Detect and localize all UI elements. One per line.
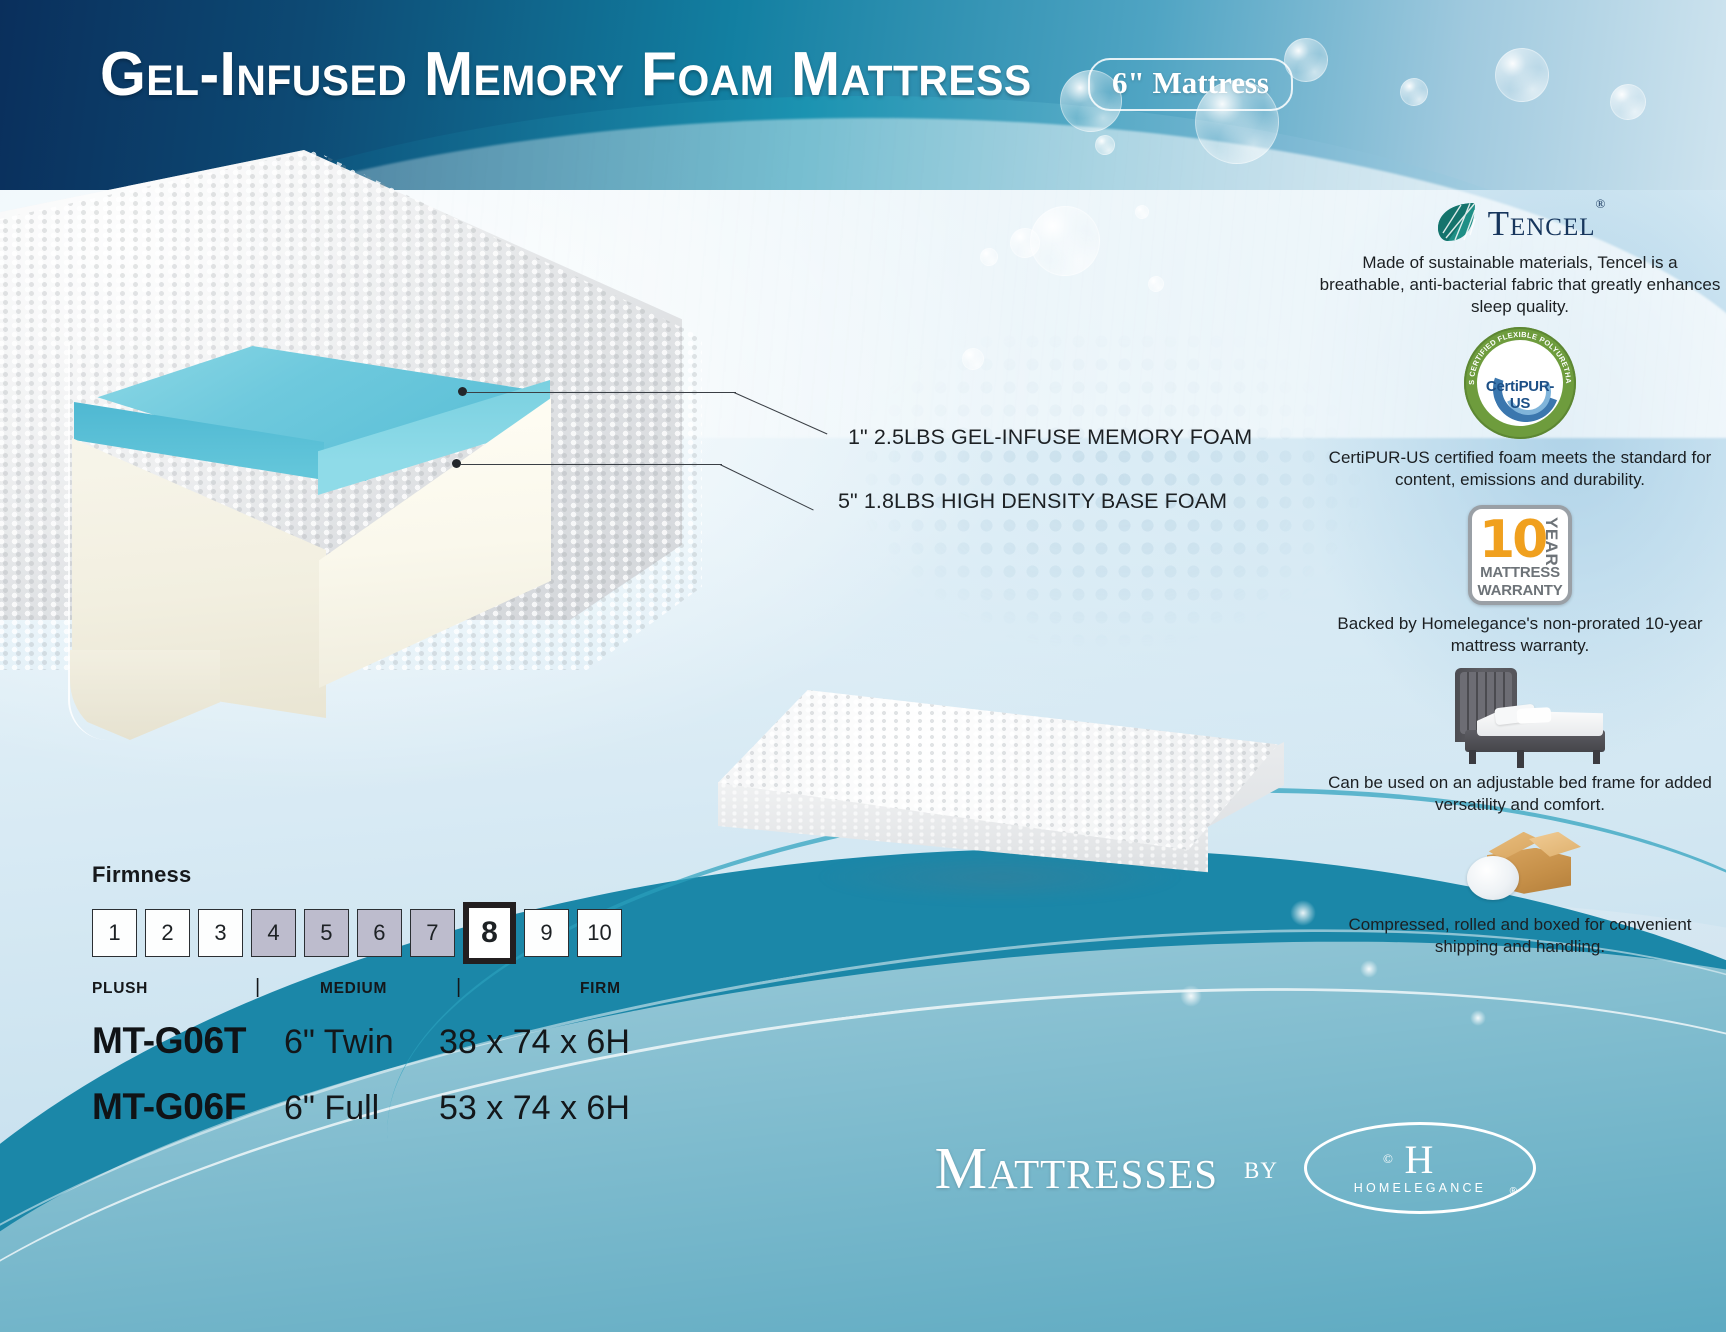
warranty-line-1: MATTRESS <box>1472 564 1568 581</box>
callout-label-gel: 1" 2.5LBS GEL-INFUSE MEMORY FOAM <box>848 425 1252 450</box>
legend-medium: MEDIUM <box>320 980 387 998</box>
tencel-wordmark: Tencel® <box>1488 204 1607 244</box>
warranty-badge-icon: 10 YEAR MATTRESS WARRANTY <box>1468 505 1572 605</box>
bubble-icon <box>1030 206 1100 276</box>
firmness-cell-9[interactable]: 9 <box>524 909 569 957</box>
rolled-mattress <box>1467 856 1519 900</box>
seal-center-text: CertiPUR-US <box>1477 378 1563 412</box>
firmness-heading: Firmness <box>92 862 622 888</box>
warranty-line-2: WARRANTY <box>1472 582 1568 599</box>
homelegance-logo: H © HOMELEGANCE ® <box>1304 1122 1536 1214</box>
bubble-icon <box>1195 80 1279 164</box>
firmness-cell-7[interactable]: 7 <box>410 909 455 957</box>
firmness-cells: 1 2 3 4 5 6 7 8 9 10 <box>92 902 622 964</box>
firmness-cell-6[interactable]: 6 <box>357 909 402 957</box>
product-spec-sheet: Gel-Infused Memory Foam Mattress 6" Matt… <box>0 0 1726 1332</box>
homelegance-initial: H <box>1405 1142 1436 1178</box>
sparkle <box>1360 960 1378 978</box>
legend-plush: PLUSH <box>92 980 148 998</box>
model-size: 6" Twin <box>284 1023 439 1062</box>
firmness-cell-5[interactable]: 5 <box>304 909 349 957</box>
bed-pillow <box>1517 707 1552 724</box>
model-row: MT-G06T 6" Twin 38 x 74 x 6H <box>92 1020 630 1086</box>
feature-rolled-box: Compressed, rolled and boxed for conveni… <box>1318 826 1722 958</box>
bubble-icon <box>1400 78 1428 106</box>
bed-leg <box>1517 750 1524 768</box>
homelegance-copyright-mark: © <box>1383 1151 1393 1167</box>
feature-rail: Tencel® Made of sustainable materials, T… <box>1318 200 1722 963</box>
bubble-icon <box>1148 276 1164 292</box>
firmness-cell-1[interactable]: 1 <box>92 909 137 957</box>
certipur-us-seal-icon: CONTAINS CERTIFIED FLEXIBLE POLYURETHANE… <box>1464 327 1576 439</box>
sparkle <box>1290 900 1316 926</box>
firmness-cell-10[interactable]: 10 <box>577 909 622 957</box>
legend-firm: FIRM <box>580 980 621 998</box>
bubble-icon <box>1095 135 1115 155</box>
warranty-number: 10 <box>1479 510 1545 570</box>
warranty-year-label: YEAR <box>1541 517 1561 566</box>
firmness-cell-2[interactable]: 2 <box>145 909 190 957</box>
mattress-product-photo <box>700 690 1300 950</box>
firmness-cell-8-selected[interactable]: 8 <box>463 902 516 964</box>
tencel-leaf-icon <box>1434 200 1478 244</box>
model-row: MT-G06F 6" Full 53 x 74 x 6H <box>92 1086 630 1152</box>
bubble-icon <box>1135 205 1149 219</box>
seal-inner-disc: CertiPUR-US <box>1477 340 1563 426</box>
firmness-legend: PLUSH | MEDIUM | FIRM <box>92 980 622 1002</box>
model-list: MT-G06T 6" Twin 38 x 74 x 6H MT-G06F 6" … <box>92 1020 630 1152</box>
feature-adjustable-bed-caption: Can be used on an adjustable bed frame f… <box>1318 772 1722 816</box>
tencel-logo: Tencel® <box>1318 200 1722 244</box>
firmness-cell-4[interactable]: 4 <box>251 909 296 957</box>
homelegance-registered-mark: ® <box>1510 1186 1517 1197</box>
bubble-icon <box>1495 48 1549 102</box>
model-dimensions: 38 x 74 x 6H <box>439 1023 630 1062</box>
bubble-icon <box>962 348 984 370</box>
footer-by-word: by <box>1244 1150 1278 1187</box>
footer-mattresses-word: Mattresses <box>935 1134 1218 1203</box>
bubble-icon <box>1284 38 1328 82</box>
model-sku: MT-G06T <box>92 1020 284 1062</box>
bed-leg <box>1593 750 1600 764</box>
feature-tencel-caption: Made of sustainable materials, Tencel is… <box>1318 252 1722 317</box>
callout-leader-base-a <box>460 464 722 465</box>
bubble-icon <box>1610 84 1646 120</box>
feature-certipur: CONTAINS CERTIFIED FLEXIBLE POLYURETHANE… <box>1318 327 1722 491</box>
sparkle <box>1470 1010 1486 1026</box>
adjustable-bed-icon <box>1425 668 1615 764</box>
rolled-box-icon <box>1445 826 1595 906</box>
feature-certipur-caption: CertiPUR-US certified foam meets the sta… <box>1318 447 1722 491</box>
callout-leader-gel-a <box>466 392 736 393</box>
legend-tick-left: | <box>255 976 261 999</box>
feature-warranty-caption: Backed by Homelegance's non-prorated 10-… <box>1318 613 1722 657</box>
sparkle <box>1180 985 1202 1007</box>
bubble-icon <box>1060 70 1122 132</box>
legend-tick-right: | <box>456 976 462 999</box>
bubble-icon <box>980 248 998 266</box>
footer-brand: Mattresses by H © HOMELEGANCE ® <box>935 1122 1536 1214</box>
homelegance-wordmark: HOMELEGANCE <box>1354 1181 1486 1195</box>
feature-adjustable-bed: Can be used on an adjustable bed frame f… <box>1318 668 1722 816</box>
model-dimensions: 53 x 74 x 6H <box>439 1089 630 1128</box>
model-size: 6" Full <box>284 1089 439 1128</box>
tencel-registered-mark: ® <box>1596 196 1607 211</box>
firmness-scale: Firmness 1 2 3 4 5 6 7 8 9 10 PLUSH | ME… <box>92 862 622 1002</box>
firmness-cell-3[interactable]: 3 <box>198 909 243 957</box>
callout-label-base: 5" 1.8LBS HIGH DENSITY BASE FOAM <box>838 489 1227 514</box>
feature-warranty: 10 YEAR MATTRESS WARRANTY Backed by Home… <box>1318 505 1722 657</box>
bed-leg <box>1469 750 1476 764</box>
model-sku: MT-G06F <box>92 1086 284 1128</box>
feature-tencel: Tencel® Made of sustainable materials, T… <box>1318 200 1722 317</box>
feature-rolled-box-caption: Compressed, rolled and boxed for conveni… <box>1318 914 1722 958</box>
page-title: Gel-Infused Memory Foam Mattress <box>100 44 1032 106</box>
mattress-cutaway-illustration <box>0 150 702 670</box>
